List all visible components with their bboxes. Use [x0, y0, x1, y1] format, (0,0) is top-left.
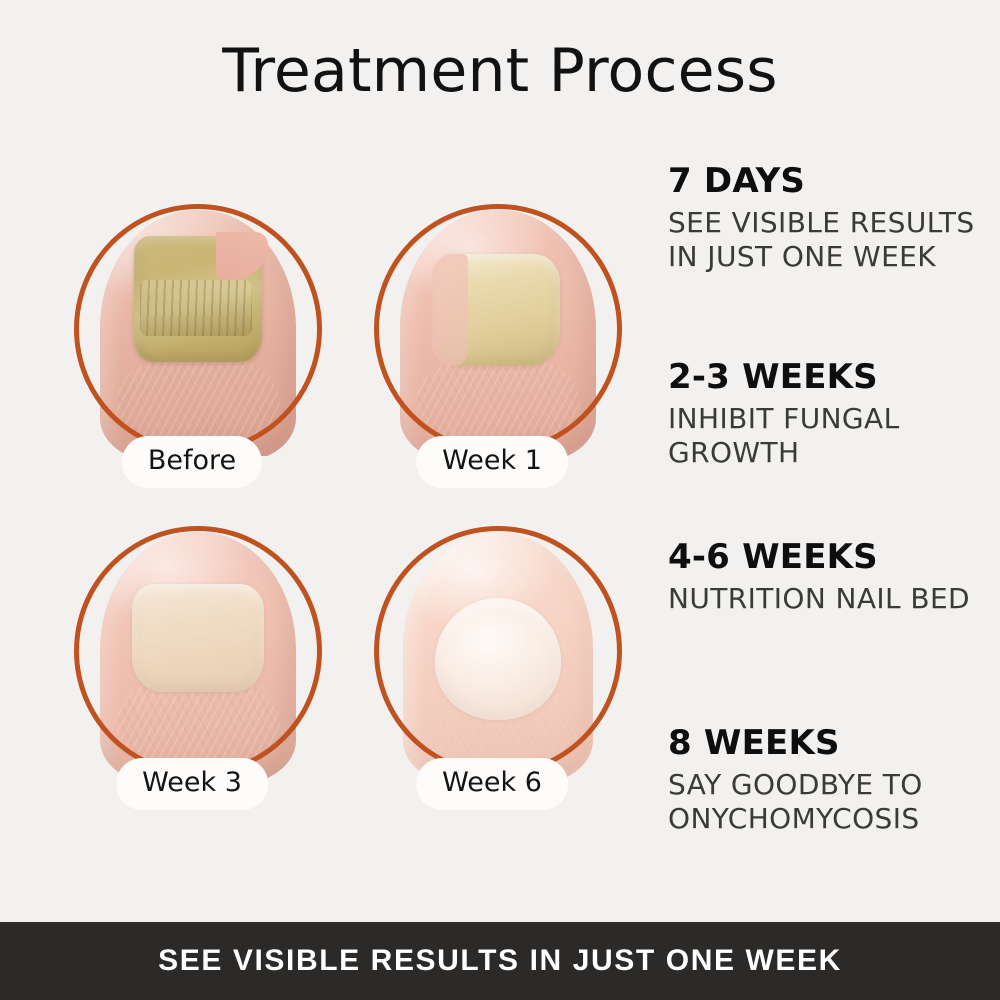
toe-photo-week-1 — [386, 206, 610, 456]
timeline-heading: 7 DAYS — [668, 160, 975, 202]
timeline-item-4-6-weeks: 4-6 WEEKS NUTRITION NAIL BED — [668, 536, 970, 616]
photo-cell-week-1: Week 1 — [358, 196, 626, 496]
page-title: Treatment Process — [0, 38, 1000, 104]
timeline-heading: 2-3 WEEKS — [668, 356, 900, 398]
photo-label-week-3: Week 3 — [116, 758, 268, 810]
timeline-item-8-weeks: 8 WEEKS SAY GOODBYE TO ONYCHOMYCOSIS — [668, 722, 923, 836]
toe-photo-week-3 — [86, 528, 310, 778]
toe-illustration — [403, 532, 593, 778]
nail-plate — [436, 254, 560, 366]
photo-cell-before: Before — [58, 196, 326, 496]
nail-plate — [435, 598, 561, 720]
nail-plate — [132, 584, 264, 692]
photo-label-week-6: Week 6 — [416, 758, 568, 810]
timeline-description: SEE VISIBLE RESULTS IN JUST ONE WEEK — [668, 206, 975, 274]
toe-photo-week-6 — [386, 528, 610, 778]
timeline-description: INHIBIT FUNGAL GROWTH — [668, 402, 900, 470]
timeline-description: SAY GOODBYE TO ONYCHOMYCOSIS — [668, 768, 923, 836]
timeline-description-line: NUTRITION NAIL BED — [668, 582, 970, 616]
toe-illustration — [400, 210, 596, 456]
timeline-heading: 8 WEEKS — [668, 722, 923, 764]
nail-plate — [134, 236, 262, 362]
before-after-photo-grid: Before Week 1 Week 3 — [42, 196, 622, 856]
banner-text: SEE VISIBLE RESULTS IN JUST ONE WEEK — [158, 944, 842, 978]
timeline-description-line: SEE VISIBLE RESULTS — [668, 206, 975, 240]
timeline-description: NUTRITION NAIL BED — [668, 582, 970, 616]
photo-cell-week-6: Week 6 — [358, 518, 626, 818]
timeline-item-2-3-weeks: 2-3 WEEKS INHIBIT FUNGAL GROWTH — [668, 356, 900, 470]
toe-illustration — [100, 532, 296, 778]
timeline-item-7-days: 7 DAYS SEE VISIBLE RESULTS IN JUST ONE W… — [668, 160, 975, 274]
toe-photo-before — [86, 206, 310, 456]
bottom-banner: SEE VISIBLE RESULTS IN JUST ONE WEEK — [0, 922, 1000, 1000]
toe-illustration — [100, 210, 296, 456]
photo-cell-week-3: Week 3 — [58, 518, 326, 818]
photo-label-before: Before — [122, 436, 262, 488]
photo-label-week-1: Week 1 — [416, 436, 568, 488]
timeline-description-line: SAY GOODBYE TO — [668, 768, 923, 802]
timeline-description-line: INHIBIT FUNGAL — [668, 402, 900, 436]
timeline-heading: 4-6 WEEKS — [668, 536, 970, 578]
timeline-description-line: GROWTH — [668, 436, 900, 470]
timeline-description-line: ONYCHOMYCOSIS — [668, 802, 923, 836]
infographic-page: Treatment Process Before Week 1 — [0, 0, 1000, 1000]
timeline-description-line: IN JUST ONE WEEK — [668, 240, 975, 274]
